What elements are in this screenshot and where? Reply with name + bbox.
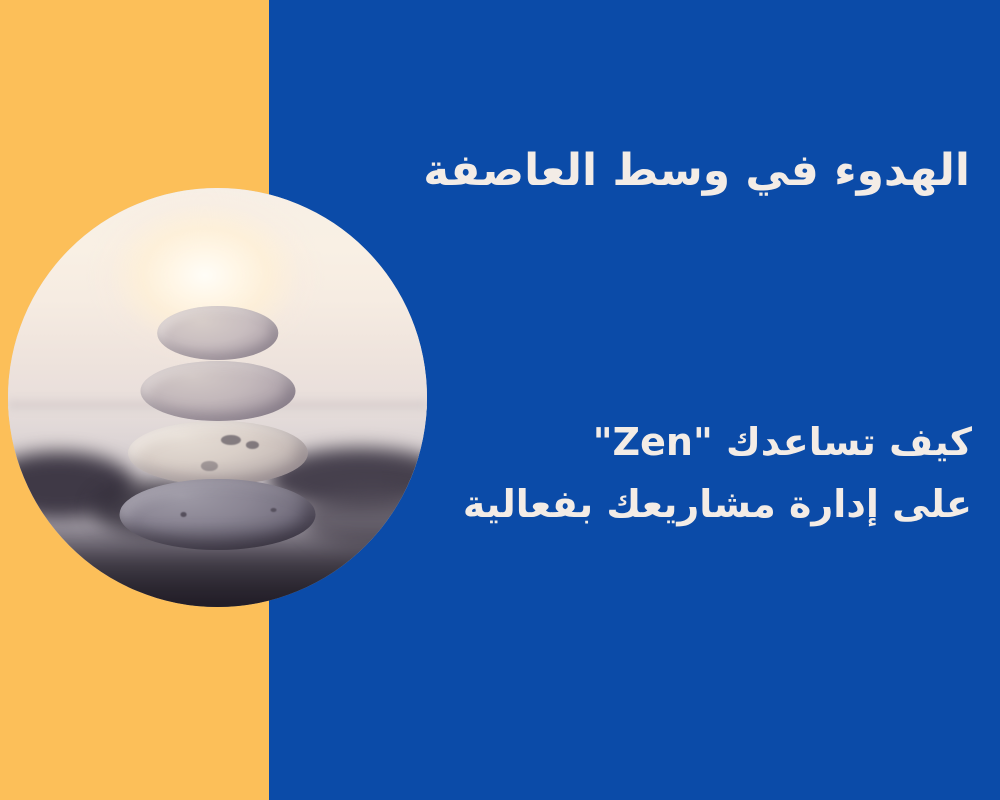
stone-second — [140, 361, 295, 422]
stone-top — [157, 306, 279, 360]
subtitle-line-1: كيف تساعدك "Zen" — [352, 412, 972, 474]
subtitle-block: كيف تساعدك "Zen" على إدارة مشاريعك بفعال… — [352, 412, 972, 535]
stone-speckle — [180, 512, 187, 517]
photo-content — [8, 188, 427, 607]
stone-speckle — [221, 435, 241, 445]
stone-speckle — [246, 441, 259, 449]
poster-canvas: الهدوء في وسط العاصفة كيف تساعدك "Zen" ع… — [0, 0, 1000, 800]
zen-stones-photo — [8, 188, 427, 607]
stone-third — [127, 421, 307, 486]
foreground-shadow — [8, 523, 427, 607]
stone-speckle — [271, 508, 277, 512]
page-title: الهدوء في وسط العاصفة — [370, 143, 970, 198]
subtitle-line-2: على إدارة مشاريعك بفعالية — [352, 474, 972, 536]
stone-speckle — [201, 461, 217, 471]
